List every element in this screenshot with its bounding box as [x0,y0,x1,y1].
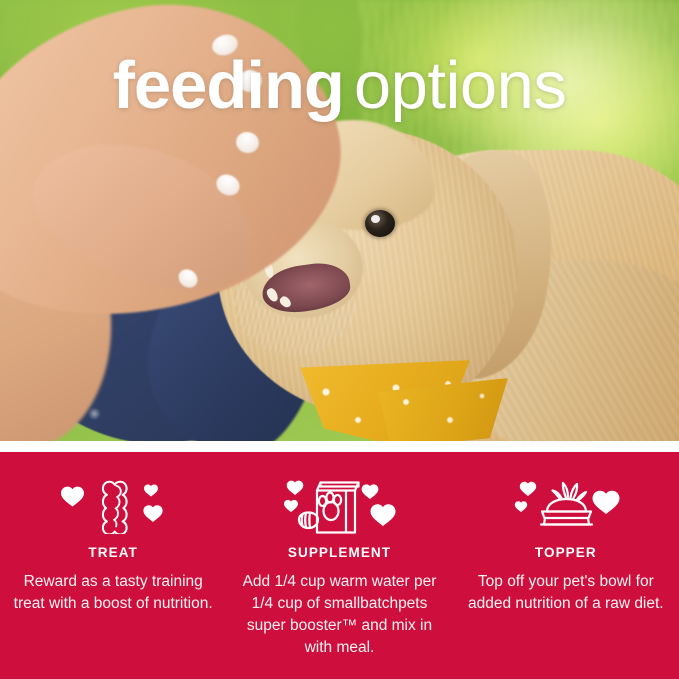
dog-bone-hearts-icon [55,476,171,534]
topper-title: TOPPER [535,545,597,560]
hero-title-bold: feeding [113,48,344,123]
dog-eye-right [365,210,395,237]
topper-description: Top off your pet's bowl for added nutrit… [459,571,673,615]
feeding-options-columns: TREAT Reward as a tasty training treat w… [0,452,679,659]
hero-title-light: options [354,48,567,123]
feeding-option-supplement: SUPPLEMENT Add 1/4 cup warm water per 1/… [226,474,452,659]
supplement-icon-wrap [279,474,399,536]
hero-photo: feedingoptions [0,0,679,441]
treat-icon-wrap [55,474,171,536]
treat-title: TREAT [88,545,138,560]
eye-highlight [371,215,380,223]
supplement-description: Add 1/4 cup warm water per 1/4 cup of sm… [232,571,446,659]
topper-icon-wrap [508,474,624,536]
white-divider [0,441,679,452]
feeding-options-infographic: feedingoptions [0,0,679,679]
feeding-option-topper: TOPPER Top off your pet's bowl for added… [453,474,679,659]
treat-description: Reward as a tasty training treat with a … [6,571,220,615]
feeding-options-panel: TREAT Reward as a tasty training treat w… [0,452,679,679]
hero-title: feedingoptions [0,52,679,119]
food-bowl-topper-hearts-icon [508,477,624,533]
supplement-bag-scoop-hearts-icon [279,474,399,536]
supplement-title: SUPPLEMENT [288,545,391,560]
feeding-option-treat: TREAT Reward as a tasty training treat w… [0,474,226,659]
